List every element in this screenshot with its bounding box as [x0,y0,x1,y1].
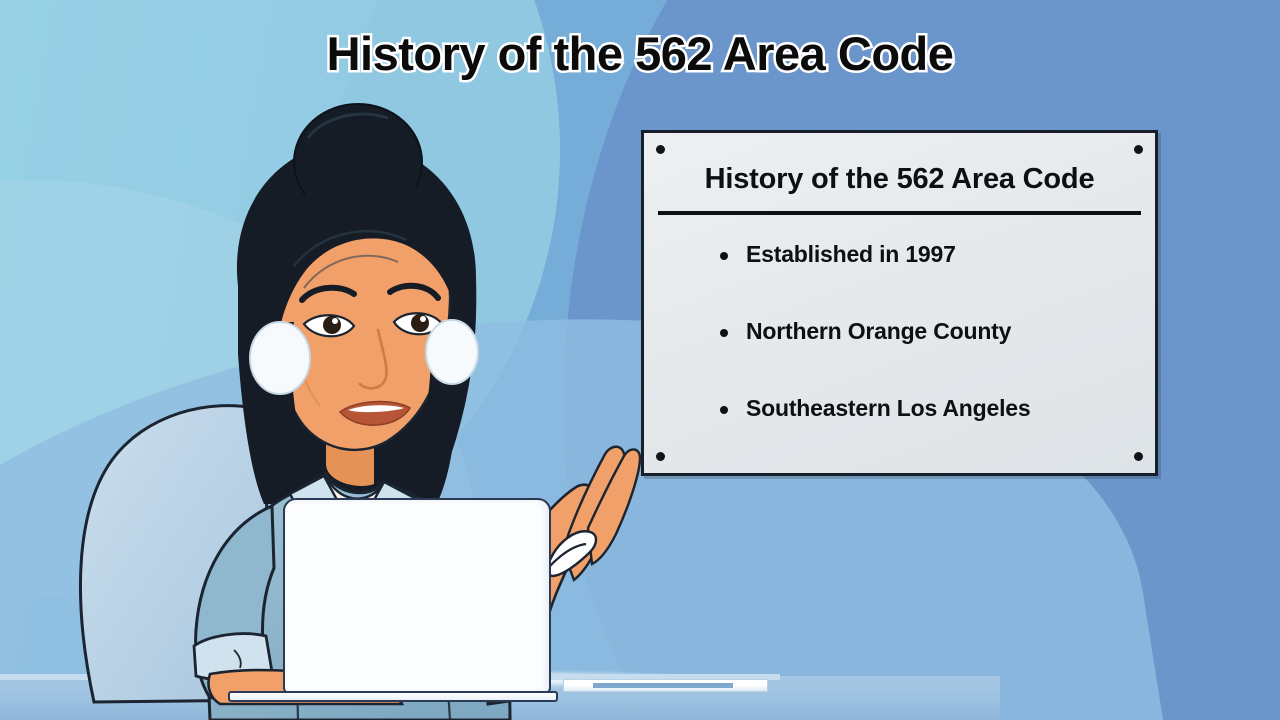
bullet-dot-icon [720,252,728,260]
list-item: Northern Orange County [712,318,1135,345]
list-item: Southeastern Los Angeles [712,395,1135,422]
bullet-dot-icon [720,406,728,414]
list-item: Established in 1997 [712,241,1135,268]
slide-canvas: History of the 562 Area Code [0,0,1280,720]
list-item-label: Northern Orange County [746,318,1011,344]
whiteboard-bullet-list: Established in 1997 Northern Orange Coun… [712,241,1135,422]
list-item-label: Established in 1997 [746,241,956,267]
page-title: History of the 562 Area Code [0,26,1280,81]
whiteboard-heading: History of the 562 Area Code [658,163,1141,196]
bullet-dot-icon [720,329,728,337]
earring-right [426,320,478,384]
screw-bottom-right-icon [1134,452,1143,461]
earring-left [250,322,310,394]
laptop-screen-back [283,498,551,694]
list-item-label: Southeastern Los Angeles [746,395,1030,421]
screw-top-left-icon [656,145,665,154]
tablet-screen-strip [593,683,733,688]
screw-bottom-left-icon [656,452,665,461]
screw-top-right-icon [1134,145,1143,154]
laptop-base [228,691,558,702]
whiteboard-panel: History of the 562 Area Code Established… [641,130,1158,476]
whiteboard-heading-underline [658,211,1141,215]
